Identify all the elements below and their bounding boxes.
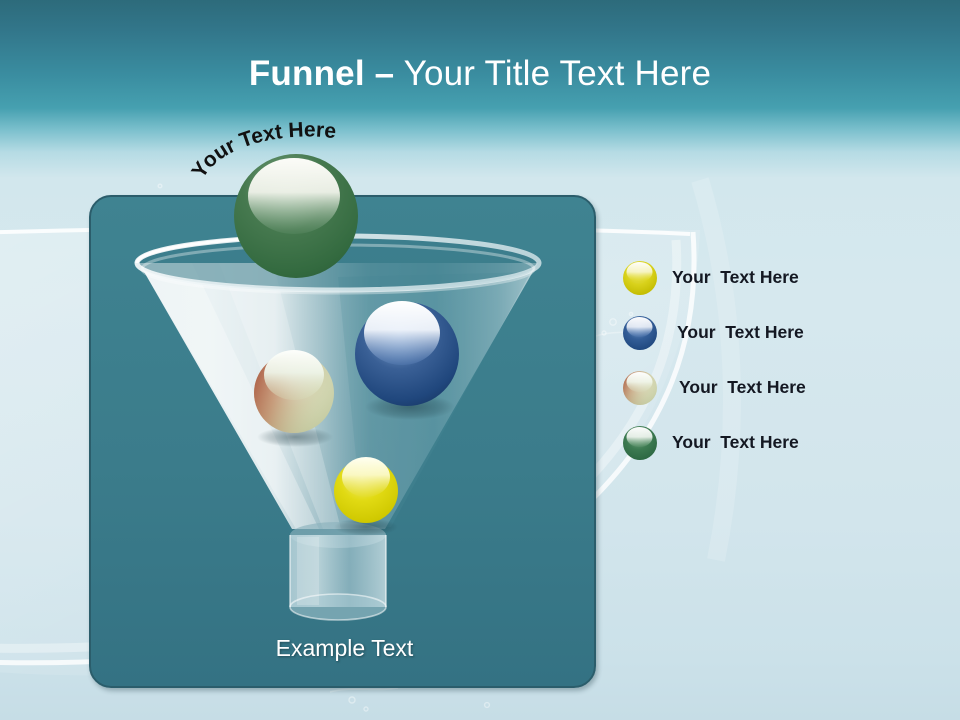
legend-label-3: Your Text Here xyxy=(679,374,806,400)
legend-bullet-tan-icon xyxy=(622,370,658,406)
slide-title: Funnel – Your Title Text Here xyxy=(0,52,960,96)
legend-bullet-green-icon xyxy=(622,425,658,461)
slide-canvas: Funnel – Your Title Text Here xyxy=(0,0,960,720)
legend-label-4: Your Text Here xyxy=(672,429,799,455)
legend-item-1[interactable]: Your Text Here xyxy=(622,258,952,313)
legend: Your Text Here xyxy=(622,258,952,478)
legend-item-2[interactable]: Your Text Here xyxy=(622,313,952,368)
arc-label-text: Your Text Here xyxy=(187,118,337,182)
sphere-tan-inner xyxy=(254,350,334,447)
legend-label-2: Your Text Here xyxy=(677,319,804,345)
panel-caption: Example Text xyxy=(91,634,598,662)
legend-bullet-blue-icon xyxy=(622,315,658,351)
legend-item-4[interactable]: Your Text Here xyxy=(622,423,952,478)
legend-label-1: Your Text Here xyxy=(672,264,799,290)
arc-label: Your Text Here xyxy=(195,118,410,188)
slide-title-bold: Funnel – xyxy=(249,54,395,93)
legend-bullet-yellow-icon xyxy=(622,260,658,296)
sphere-yellow-inner xyxy=(334,457,398,536)
sphere-blue-inner xyxy=(355,301,459,420)
slide-title-light: Your Title Text Here xyxy=(394,54,711,93)
legend-item-3[interactable]: Your Text Here xyxy=(622,368,952,423)
